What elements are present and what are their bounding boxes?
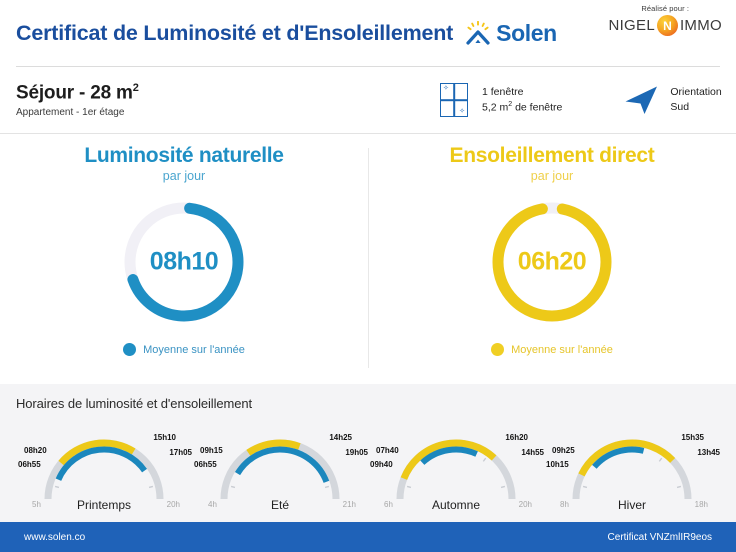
gauges-section: Luminosité naturelle par jour 08h10 Moye… <box>0 133 736 382</box>
season-yellow-start-time: 08h20 <box>24 446 47 455</box>
season-blue-end-time: 17h05 <box>169 448 192 457</box>
seasons-row: 06h5508h2015h1017h055h20hPrintemps06h550… <box>16 413 720 513</box>
window-sparkle-bottom-icon: ✧ <box>459 108 465 115</box>
room-subtitle: Appartement - 1er étage <box>16 107 139 118</box>
gauge-value: 08h10 <box>118 248 250 277</box>
client-name-suffix: IMMO <box>680 17 722 34</box>
season-blue-end-time: 14h55 <box>521 448 544 457</box>
seasons-section: Horaires de luminosité et d'ensoleilleme… <box>0 384 736 522</box>
season-blue-start-time: 06h55 <box>194 460 217 469</box>
room-title: Séjour - 28 m2 <box>16 82 139 104</box>
season-yellow-end-time: 15h10 <box>153 433 176 442</box>
client-logo: NIGEL N IMMO <box>608 15 722 36</box>
direction-arrow-icon <box>624 84 660 116</box>
window-area: 5,2 m2 de fenêtre <box>482 100 562 116</box>
gauge-subtitle: par jour <box>163 169 205 183</box>
gauge-subtitle: par jour <box>531 169 573 183</box>
gauge-title: Luminosité naturelle <box>84 144 283 168</box>
seasons-title: Horaires de luminosité et d'ensoleilleme… <box>16 396 720 411</box>
gauge-legend: Moyenne sur l'année <box>123 343 245 356</box>
window-info-text: 1 fenêtre 5,2 m2 de fenêtre <box>482 85 562 116</box>
season-label: Hiver <box>544 498 720 512</box>
legend-label: Moyenne sur l'année <box>143 344 245 356</box>
window-area-suffix: de fenêtre <box>512 101 562 113</box>
sun-house-icon <box>465 21 491 45</box>
page-header: Certificat de Luminosité et d'Ensoleille… <box>0 0 736 66</box>
gauge-value: 06h20 <box>486 248 618 277</box>
season-gauge: 09h4007h4016h2014h556h20hAutomne <box>368 413 544 513</box>
footer-certificate-id: Certificat VNZmlIR9eos <box>608 532 712 543</box>
solen-wordmark: Solen <box>496 20 557 47</box>
window-grid-icon: ✧ ✧ <box>440 83 468 117</box>
client-block: Réalisé pour : NIGEL N IMMO <box>608 4 722 36</box>
certificate-page: Certificat de Luminosité et d'Ensoleille… <box>0 0 736 552</box>
legend-dot-icon <box>123 343 136 356</box>
info-right-group: ✧ ✧ 1 fenêtre 5,2 m2 de fenêtre Orientat… <box>440 67 722 133</box>
season-yellow-end-time: 15h35 <box>681 433 704 442</box>
footer-website[interactable]: www.solen.co <box>24 532 85 543</box>
season-label: Automne <box>368 498 544 512</box>
season-blue-start-time: 09h40 <box>370 460 393 469</box>
realise-pour-label: Réalisé pour : <box>641 4 689 13</box>
room-title-text: Séjour - 28 m <box>16 82 133 103</box>
page-footer: www.solen.co Certificat VNZmlIR9eos <box>0 522 736 552</box>
season-label: Eté <box>192 498 368 512</box>
season-label: Printemps <box>16 498 192 512</box>
orientation-group: Orientation Sud <box>624 84 721 116</box>
season-yellow-start-time: 09h25 <box>552 446 575 455</box>
season-gauge: 06h5509h1514h2519h054h21hEté <box>192 413 368 513</box>
gauge-title: Ensoleillement direct <box>450 144 655 168</box>
client-badge-icon: N <box>657 15 678 36</box>
season-blue-end-time: 19h05 <box>345 448 368 457</box>
season-gauge: 10h1509h2515h3513h458h18hHiver <box>544 413 720 513</box>
orientation-label: Orientation <box>670 85 721 100</box>
season-yellow-start-time: 07h40 <box>376 446 399 455</box>
property-info-bar: Séjour - 28 m2 Appartement - 1er étage ✧… <box>0 67 736 133</box>
gauge-donut: 08h10 <box>118 196 250 328</box>
orientation-value: Sud <box>670 100 721 115</box>
legend-label: Moyenne sur l'année <box>511 344 613 356</box>
window-sparkle-top-icon: ✧ <box>443 85 449 92</box>
solen-brand: Solen <box>465 20 557 47</box>
season-yellow-start-time: 09h15 <box>200 446 223 455</box>
season-blue-start-time: 10h15 <box>546 460 569 469</box>
gauge-donut: 06h20 <box>486 196 618 328</box>
gauge-legend: Moyenne sur l'année <box>491 343 613 356</box>
legend-dot-icon <box>491 343 504 356</box>
season-yellow-end-time: 16h20 <box>505 433 528 442</box>
gauge-luminosite: Luminosité naturelle par jour 08h10 Moye… <box>0 134 368 382</box>
season-yellow-end-time: 14h25 <box>329 433 352 442</box>
page-title: Certificat de Luminosité et d'Ensoleille… <box>16 21 453 46</box>
orientation-text: Orientation Sud <box>670 85 721 115</box>
window-area-value: 5,2 m <box>482 101 508 113</box>
gauge-ensoleillement: Ensoleillement direct par jour 06h20 Moy… <box>368 134 736 382</box>
room-title-exponent: 2 <box>133 82 139 94</box>
window-count: 1 fenêtre <box>482 85 562 100</box>
season-blue-start-time: 06h55 <box>18 460 41 469</box>
client-name-prefix: NIGEL <box>608 17 655 34</box>
season-gauge: 06h5508h2015h1017h055h20hPrintemps <box>16 413 192 513</box>
season-blue-end-time: 13h45 <box>697 448 720 457</box>
